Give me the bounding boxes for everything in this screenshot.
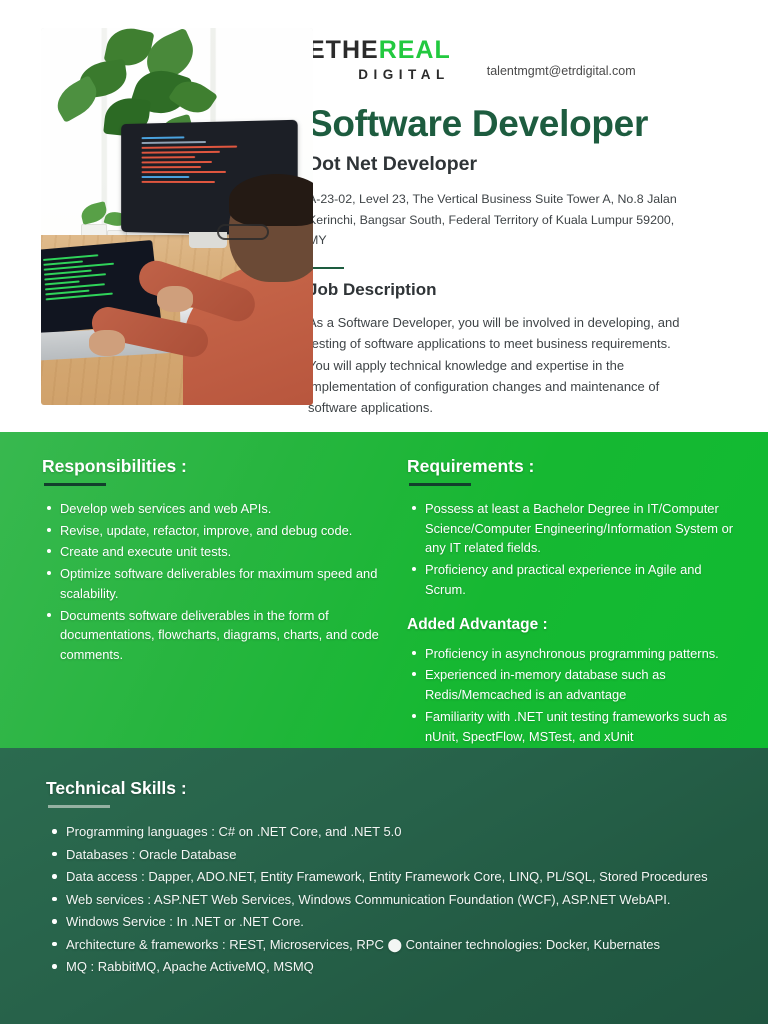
- responsibilities-underline: [44, 483, 106, 486]
- responsibilities-list: Develop web services and web APIs. Revis…: [42, 499, 379, 665]
- logo-primary-text: ETHE: [308, 36, 379, 64]
- poster-header-section: ETHEREAL DIGITAL talentmgmt@etrdigital.c…: [0, 0, 768, 432]
- logo-row: ETHEREAL DIGITAL talentmgmt@etrdigital.c…: [308, 28, 722, 82]
- list-item: Web services : ASP.NET Web Services, Win…: [66, 890, 738, 910]
- company-address: A-23-02, Level 23, The Vertical Business…: [308, 189, 678, 249]
- responsibilities-heading: Responsibilities :: [42, 456, 379, 477]
- job-posting-poster: ETHEREAL DIGITAL talentmgmt@etrdigital.c…: [0, 0, 768, 1024]
- glasses-icon: [217, 224, 269, 240]
- contact-email[interactable]: talentmgmt@etrdigital.com: [487, 28, 636, 78]
- page-title: Software Developer: [308, 104, 722, 144]
- requirements-list: Possess at least a Bachelor Degree in IT…: [407, 499, 734, 600]
- list-item: Familiarity with .NET unit testing frame…: [425, 707, 734, 746]
- list-item: Proficiency and practical experience in …: [425, 560, 734, 599]
- list-item: Optimize software deliverables for maxim…: [60, 564, 379, 603]
- added-advantage-heading: Added Advantage :: [407, 616, 734, 634]
- added-advantage-list: Proficiency in asynchronous programming …: [407, 644, 734, 747]
- developer-photo: [41, 28, 313, 405]
- person-hand-left: [89, 330, 125, 356]
- requirements-column: Requirements : Possess at least a Bachel…: [401, 456, 734, 748]
- header-text-column: ETHEREAL DIGITAL talentmgmt@etrdigital.c…: [300, 28, 768, 432]
- list-item: MQ : RabbitMQ, Apache ActiveMQ, MSMQ: [66, 957, 738, 977]
- technical-skills-heading: Technical Skills :: [34, 778, 738, 799]
- list-item: Develop web services and web APIs.: [60, 499, 379, 519]
- list-item: Data access : Dapper, ADO.NET, Entity Fr…: [66, 867, 738, 887]
- list-item: Proficiency in asynchronous programming …: [425, 644, 734, 664]
- technical-skills-underline: [48, 805, 110, 808]
- person-hair: [229, 174, 313, 226]
- divider-rule: [308, 267, 344, 270]
- logo-wordmark: ETHEREAL: [308, 38, 451, 63]
- logo-subtext: DIGITAL: [308, 68, 451, 82]
- company-logo[interactable]: ETHEREAL DIGITAL: [308, 28, 451, 82]
- list-item: Possess at least a Bachelor Degree in IT…: [425, 499, 734, 558]
- logo-accent-text: REAL: [379, 36, 451, 64]
- job-subtitle: Dot Net Developer: [308, 153, 722, 176]
- responsibilities-column: Responsibilities : Develop web services …: [34, 456, 379, 748]
- person-hand-right: [157, 286, 193, 312]
- list-item: Programming languages : C# on .NET Core,…: [66, 822, 738, 842]
- list-item: Experienced in-memory database such as R…: [425, 665, 734, 704]
- job-description-body: As a Software Developer, you will be inv…: [308, 312, 686, 418]
- job-description-heading: Job Description: [308, 280, 722, 300]
- requirements-underline: [409, 483, 471, 486]
- list-item: Revise, update, refactor, improve, and d…: [60, 521, 379, 541]
- list-item: Databases : Oracle Database: [66, 845, 738, 865]
- technical-skills-list: Programming languages : C# on .NET Core,…: [34, 822, 738, 977]
- technical-skills-section: Technical Skills : Programming languages…: [0, 748, 768, 1024]
- list-item: Create and execute unit tests.: [60, 542, 379, 562]
- list-item: Documents software deliverables in the f…: [60, 606, 379, 665]
- list-item: Windows Service : In .NET or .NET Core.: [66, 912, 738, 932]
- list-item: Architecture & frameworks : REST, Micros…: [66, 935, 738, 955]
- requirements-heading: Requirements :: [407, 456, 734, 477]
- responsibilities-requirements-section: Responsibilities : Develop web services …: [0, 432, 768, 748]
- photo-column: [0, 28, 300, 432]
